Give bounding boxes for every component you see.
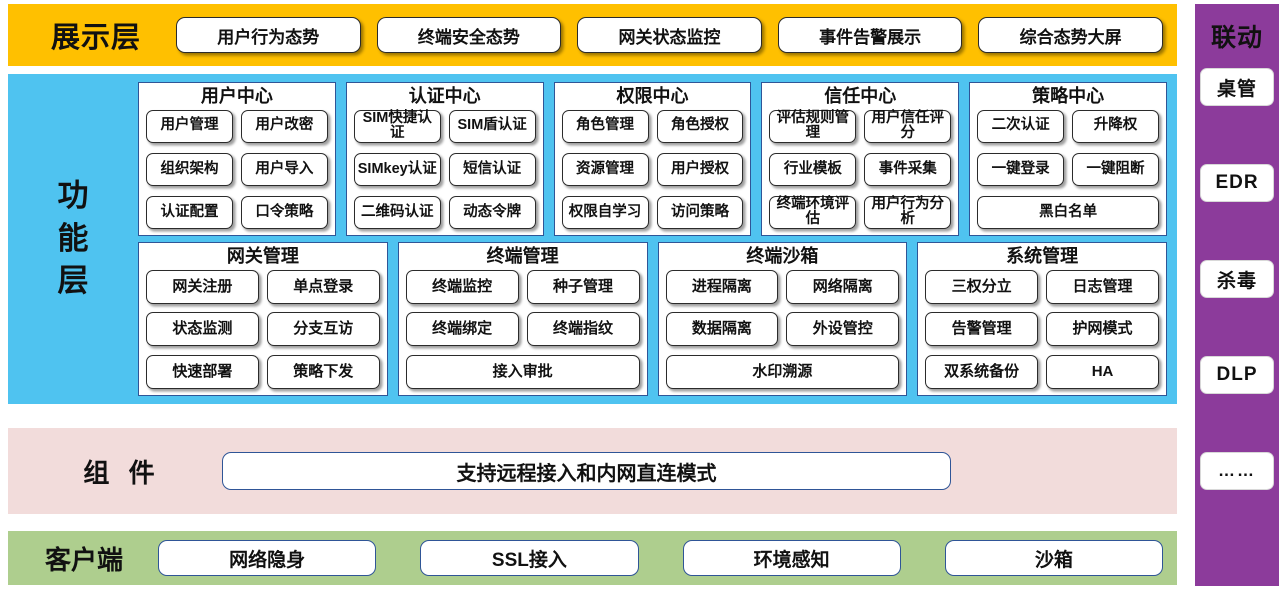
function-row-2: 网关管理 网关注册 单点登录 状态监测 分支互访 快速部署 策略下发 终端管理 <box>138 242 1167 396</box>
cell[interactable]: 二维码认证 <box>354 196 441 229</box>
panel-terminal-management: 终端管理 终端监控 种子管理 终端绑定 终端指纹 接入审批 <box>398 242 648 396</box>
cell[interactable]: 三权分立 <box>925 270 1038 304</box>
cell[interactable]: 外设管控 <box>786 312 899 346</box>
cell[interactable]: 终端绑定 <box>406 312 519 346</box>
cell[interactable]: 资源管理 <box>562 153 649 186</box>
cell[interactable]: SIM盾认证 <box>449 110 536 143</box>
cell[interactable]: 评估规则管理 <box>769 110 856 143</box>
cell[interactable]: 短信认证 <box>449 153 536 186</box>
function-row-1: 用户中心 用户管理 用户改密 组织架构 用户导入 认证配置 口令策略 认证中心 <box>138 82 1167 236</box>
cell[interactable]: 日志管理 <box>1046 270 1159 304</box>
linkage-item-edr[interactable]: EDR <box>1200 164 1274 202</box>
cell[interactable]: 权限自学习 <box>562 196 649 229</box>
cell[interactable]: 终端环境评估 <box>769 196 856 229</box>
presentation-layer-label: 展示层 <box>22 14 170 56</box>
panel-title: 权限中心 <box>562 86 744 110</box>
cell[interactable]: 进程隔离 <box>666 270 779 304</box>
cell[interactable]: 数据隔离 <box>666 312 779 346</box>
cell[interactable]: 水印溯源 <box>666 355 900 389</box>
panel-grid: 角色管理 角色授权 资源管理 用户授权 权限自学习 访问策略 <box>562 110 744 229</box>
cell[interactable]: 角色授权 <box>657 110 744 143</box>
cell[interactable]: 事件采集 <box>864 153 951 186</box>
client-item-1[interactable]: SSL接入 <box>420 540 638 576</box>
cell[interactable]: 接入审批 <box>406 355 640 389</box>
cell[interactable]: 双系统备份 <box>925 355 1038 389</box>
main-column: 展示层 用户行为态势 终端安全态势 网关状态监控 事件告警展示 综合态势大屏 功… <box>0 0 1185 591</box>
panel-terminal-sandbox: 终端沙箱 进程隔离 网络隔离 数据隔离 外设管控 水印溯源 <box>658 242 908 396</box>
panel-title: 终端沙箱 <box>666 246 900 270</box>
client-layer-band: 客户端 网络隐身 SSL接入 环境感知 沙箱 <box>8 531 1177 585</box>
panel-grid: SIM快捷认证 SIM盾认证 SIMkey认证 短信认证 二维码认证 动态令牌 <box>354 110 536 229</box>
function-label-char-2: 层 <box>58 260 89 303</box>
linkage-item-antivirus[interactable]: 杀毒 <box>1200 260 1274 298</box>
client-layer-items: 网络隐身 SSL接入 环境感知 沙箱 <box>146 540 1163 576</box>
panel-auth-center: 认证中心 SIM快捷认证 SIM盾认证 SIMkey认证 短信认证 二维码认证 … <box>346 82 544 236</box>
panel-user-center: 用户中心 用户管理 用户改密 组织架构 用户导入 认证配置 口令策略 <box>138 82 336 236</box>
cell[interactable]: 用户授权 <box>657 153 744 186</box>
panel-system-management: 系统管理 三权分立 日志管理 告警管理 护网模式 双系统备份 HA <box>917 242 1167 396</box>
linkage-rail-title: 联动 <box>1211 18 1263 54</box>
cell[interactable]: HA <box>1046 355 1159 389</box>
linkage-item-desktop-management[interactable]: 桌管 <box>1200 68 1274 106</box>
presentation-layer-band: 展示层 用户行为态势 终端安全态势 网关状态监控 事件告警展示 综合态势大屏 <box>8 4 1177 66</box>
cell[interactable]: 行业模板 <box>769 153 856 186</box>
client-item-3[interactable]: 沙箱 <box>945 540 1163 576</box>
cell[interactable]: 用户改密 <box>241 110 328 143</box>
panel-title: 策略中心 <box>977 86 1159 110</box>
cell[interactable]: SIM快捷认证 <box>354 110 441 143</box>
presentation-item-2[interactable]: 网关状态监控 <box>577 17 762 53</box>
presentation-item-1[interactable]: 终端安全态势 <box>377 17 562 53</box>
cell[interactable]: 口令策略 <box>241 196 328 229</box>
cell[interactable]: 网关注册 <box>146 270 259 304</box>
panel-grid: 三权分立 日志管理 告警管理 护网模式 双系统备份 HA <box>925 270 1159 389</box>
panel-grid: 终端监控 种子管理 终端绑定 终端指纹 接入审批 <box>406 270 640 389</box>
linkage-item-more[interactable]: …… <box>1200 452 1274 490</box>
component-layer-label: 组 件 <box>22 453 222 490</box>
cell[interactable]: 终端监控 <box>406 270 519 304</box>
panel-trust-center: 信任中心 评估规则管理 用户信任评分 行业模板 事件采集 终端环境评估 用户行为… <box>761 82 959 236</box>
linkage-rail: 联动 桌管 EDR 杀毒 DLP …… <box>1195 4 1279 586</box>
cell[interactable]: 网络隔离 <box>786 270 899 304</box>
cell[interactable]: 动态令牌 <box>449 196 536 229</box>
panel-gateway-management: 网关管理 网关注册 单点登录 状态监测 分支互访 快速部署 策略下发 <box>138 242 388 396</box>
cell[interactable]: 升降权 <box>1072 110 1159 143</box>
presentation-layer-items: 用户行为态势 终端安全态势 网关状态监控 事件告警展示 综合态势大屏 <box>170 17 1163 53</box>
cell[interactable]: 快速部署 <box>146 355 259 389</box>
cell[interactable]: 访问策略 <box>657 196 744 229</box>
cell[interactable]: 二次认证 <box>977 110 1064 143</box>
component-layer-band: 组 件 支持远程接入和内网直连模式 <box>8 428 1177 514</box>
linkage-item-dlp[interactable]: DLP <box>1200 356 1274 394</box>
cell[interactable]: 单点登录 <box>267 270 380 304</box>
cell[interactable]: 认证配置 <box>146 196 233 229</box>
cell[interactable]: 用户导入 <box>241 153 328 186</box>
cell[interactable]: 终端指纹 <box>527 312 640 346</box>
function-layer-body: 用户中心 用户管理 用户改密 组织架构 用户导入 认证配置 口令策略 认证中心 <box>138 74 1177 404</box>
function-label-char-0: 功 <box>58 175 89 218</box>
cell[interactable]: 护网模式 <box>1046 312 1159 346</box>
function-label-char-1: 能 <box>58 218 89 261</box>
client-item-0[interactable]: 网络隐身 <box>158 540 376 576</box>
panel-title: 网关管理 <box>146 246 380 270</box>
presentation-item-3[interactable]: 事件告警展示 <box>778 17 963 53</box>
component-item[interactable]: 支持远程接入和内网直连模式 <box>222 452 951 490</box>
panel-permission-center: 权限中心 角色管理 角色授权 资源管理 用户授权 权限自学习 访问策略 <box>554 82 752 236</box>
panel-title: 认证中心 <box>354 86 536 110</box>
function-layer-band: 功 能 层 用户中心 用户管理 用户改密 组织架构 用户导入 认证配置 <box>8 74 1177 404</box>
panel-grid: 网关注册 单点登录 状态监测 分支互访 快速部署 策略下发 <box>146 270 380 389</box>
cell[interactable]: 种子管理 <box>527 270 640 304</box>
cell[interactable]: SIMkey认证 <box>354 153 441 186</box>
cell[interactable]: 黑白名单 <box>977 196 1159 229</box>
cell[interactable]: 告警管理 <box>925 312 1038 346</box>
panel-grid: 评估规则管理 用户信任评分 行业模板 事件采集 终端环境评估 用户行为分析 <box>769 110 951 229</box>
panel-title: 终端管理 <box>406 246 640 270</box>
function-layer-label: 功 能 层 <box>8 74 138 404</box>
panel-grid: 用户管理 用户改密 组织架构 用户导入 认证配置 口令策略 <box>146 110 328 229</box>
client-layer-label: 客户端 <box>22 540 146 577</box>
panel-title: 用户中心 <box>146 86 328 110</box>
panel-grid: 进程隔离 网络隔离 数据隔离 外设管控 水印溯源 <box>666 270 900 389</box>
cell[interactable]: 用户管理 <box>146 110 233 143</box>
panel-title: 信任中心 <box>769 86 951 110</box>
cell[interactable]: 角色管理 <box>562 110 649 143</box>
cell[interactable]: 用户行为分析 <box>864 196 951 229</box>
cell[interactable]: 用户信任评分 <box>864 110 951 143</box>
presentation-item-0[interactable]: 用户行为态势 <box>176 17 361 53</box>
cell[interactable]: 一键阻断 <box>1072 153 1159 186</box>
architecture-diagram: 展示层 用户行为态势 终端安全态势 网关状态监控 事件告警展示 综合态势大屏 功… <box>0 0 1286 591</box>
presentation-item-4[interactable]: 综合态势大屏 <box>978 17 1163 53</box>
panel-grid: 二次认证 升降权 一键登录 一键阻断 黑白名单 <box>977 110 1159 229</box>
cell[interactable]: 状态监测 <box>146 312 259 346</box>
panel-title: 系统管理 <box>925 246 1159 270</box>
cell[interactable]: 策略下发 <box>267 355 380 389</box>
cell[interactable]: 分支互访 <box>267 312 380 346</box>
panel-policy-center: 策略中心 二次认证 升降权 一键登录 一键阻断 黑白名单 <box>969 82 1167 236</box>
cell[interactable]: 一键登录 <box>977 153 1064 186</box>
cell[interactable]: 组织架构 <box>146 153 233 186</box>
client-item-2[interactable]: 环境感知 <box>683 540 901 576</box>
